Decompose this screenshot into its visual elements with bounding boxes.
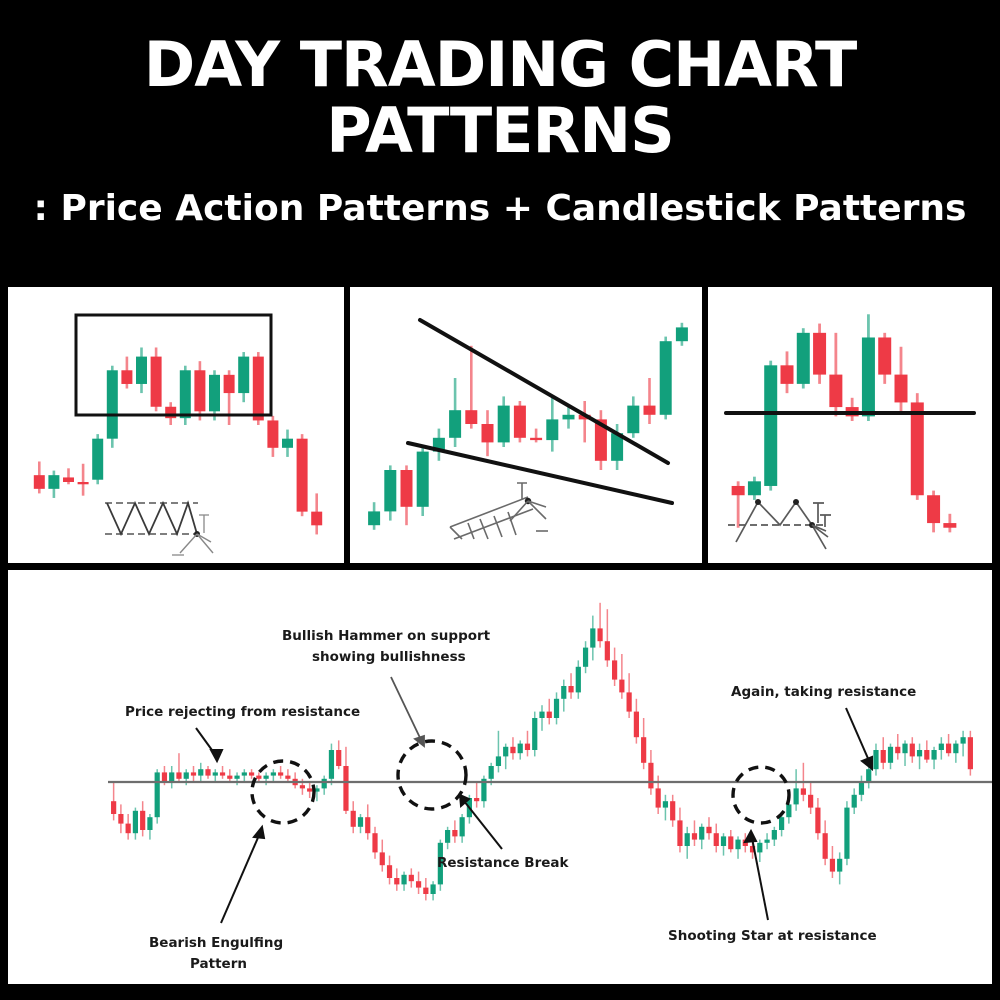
candle: [514, 401, 526, 442]
candle: [474, 782, 479, 808]
candle: [910, 737, 915, 763]
page-subtitle: : Price Action Patterns + Candlestick Pa…: [34, 188, 967, 230]
candle: [943, 514, 956, 533]
candle: [151, 347, 162, 411]
candle: [107, 366, 118, 448]
candle: [663, 795, 668, 821]
candle: [322, 776, 327, 795]
anno-bullish-hammer-line1: Bullish Hammer on support: [282, 628, 491, 644]
candle: [748, 477, 761, 500]
candle: [496, 731, 501, 773]
candle: [336, 740, 341, 769]
arrow-shooting-star: [745, 831, 768, 920]
candle: [433, 429, 445, 461]
candle: [605, 609, 610, 667]
candle: [895, 347, 908, 412]
anno-bearish-engulfing-line2: Pattern: [190, 956, 247, 972]
candle: [271, 769, 276, 782]
candle: [329, 744, 334, 786]
range-sketch: [105, 503, 213, 555]
candle: [209, 370, 220, 420]
candle: [568, 673, 573, 699]
candle: [597, 603, 602, 648]
candle: [430, 881, 435, 900]
candle: [924, 740, 929, 762]
candle: [121, 357, 132, 389]
poster-root: DAY TRADING CHART PATTERNS : Price Actio…: [0, 0, 1000, 1000]
anno-bullish-hammer-line2: showing bullishness: [312, 649, 466, 665]
candle: [685, 827, 690, 859]
lower-trendline: [408, 443, 672, 503]
candle: [627, 673, 632, 718]
candle: [852, 788, 857, 814]
candle: [147, 814, 152, 840]
candle: [873, 744, 878, 776]
candle: [808, 782, 813, 814]
anno-resistance-break: Resistance Break: [437, 855, 569, 871]
candle: [939, 737, 944, 759]
candle: [409, 868, 414, 887]
candle: [343, 747, 348, 814]
candle: [532, 712, 537, 757]
candle: [794, 769, 799, 811]
candle: [140, 801, 145, 836]
candle: [583, 641, 588, 673]
candle: [862, 314, 875, 421]
candle: [311, 493, 322, 534]
candle: [561, 680, 566, 712]
candle: [830, 846, 835, 878]
candle: [714, 824, 719, 853]
candle: [735, 836, 740, 858]
candle: [634, 699, 639, 744]
double-top-sketch: [728, 499, 831, 549]
candle: [285, 769, 290, 782]
poster-header: DAY TRADING CHART PATTERNS : Price Actio…: [0, 0, 1000, 285]
candle: [813, 324, 826, 384]
candle: [953, 740, 958, 762]
candle: [224, 370, 235, 425]
candle: [380, 840, 385, 872]
candle: [63, 468, 74, 484]
candle: [670, 795, 675, 827]
candle: [946, 734, 951, 756]
candle: [911, 393, 924, 500]
candle: [176, 753, 181, 782]
candle: [677, 808, 682, 853]
candle: [902, 740, 907, 766]
candle: [278, 766, 283, 779]
candle: [238, 352, 249, 402]
candle: [546, 396, 558, 451]
page-title-line2: PATTERNS: [326, 96, 674, 166]
candle: [365, 804, 370, 839]
candle: [249, 769, 254, 779]
anno-bearish-engulfing-line1: Bearish Engulfing: [149, 935, 283, 951]
candle: [372, 827, 377, 859]
candle: [728, 830, 733, 852]
panel3-candles: [732, 314, 957, 532]
candle: [757, 840, 762, 862]
candle: [194, 361, 205, 420]
circle-bullish-hammer: [398, 741, 466, 809]
candle: [878, 333, 891, 384]
candle: [220, 766, 225, 779]
candle: [823, 820, 828, 865]
wedge-sketch: [450, 483, 548, 539]
arrow-bearish-engulfing: [221, 827, 264, 923]
candle: [644, 378, 656, 424]
candle: [881, 737, 886, 769]
candle: [264, 772, 269, 785]
candle: [595, 410, 607, 470]
candle: [706, 817, 711, 839]
candle: [267, 416, 278, 457]
candle: [676, 323, 688, 346]
candle: [498, 396, 510, 447]
candle: [764, 833, 769, 849]
panel-double-top[interactable]: [708, 287, 992, 563]
candle: [198, 763, 203, 782]
candle: [797, 328, 810, 388]
candle: [136, 347, 147, 393]
candle: [297, 434, 308, 516]
candle: [358, 814, 363, 833]
candle: [242, 769, 247, 782]
candle: [401, 465, 413, 525]
candle: [772, 827, 777, 846]
candle: [234, 772, 239, 785]
pattern-panels-row: [8, 287, 992, 563]
candle: [844, 801, 849, 865]
panel-falling-wedge[interactable]: [350, 287, 702, 563]
candle: [721, 833, 726, 855]
candle: [660, 337, 672, 420]
candle: [205, 766, 210, 779]
candle: [293, 772, 298, 788]
candle: [126, 814, 131, 840]
candle: [503, 744, 508, 770]
arrow-bullish-hammer: [391, 677, 424, 746]
candle: [510, 737, 515, 759]
candle: [815, 798, 820, 840]
candle: [518, 740, 523, 759]
candle: [692, 820, 697, 846]
candle: [401, 872, 406, 891]
arrow-again-taking-resistance: [846, 708, 872, 769]
candle: [764, 361, 777, 491]
panel-range-rectangle[interactable]: [8, 287, 344, 563]
circle-bearish-engulfing: [252, 761, 314, 823]
candle: [888, 744, 893, 770]
anno-price-rejecting: Price rejecting from resistance: [125, 704, 360, 720]
candle: [961, 731, 966, 757]
candle: [351, 801, 356, 833]
candle: [307, 782, 312, 798]
candle: [460, 814, 465, 843]
anno-shooting-star: Shooting Star at resistance: [668, 928, 877, 944]
candle: [481, 776, 486, 808]
arrow-price-rejecting: [196, 728, 222, 761]
candle: [482, 410, 494, 456]
candle: [859, 776, 864, 802]
candle: [576, 660, 581, 698]
anno-again-taking-resistance: Again, taking resistance: [731, 684, 916, 700]
candle: [927, 491, 940, 533]
candle: [133, 808, 138, 840]
candle: [612, 648, 617, 686]
candle: [256, 772, 261, 782]
candle: [282, 430, 293, 457]
candle: [78, 464, 89, 496]
candle: [449, 378, 461, 447]
candle: [191, 766, 196, 782]
candle: [423, 878, 428, 900]
candle: [931, 747, 936, 769]
candle: [648, 750, 653, 795]
upper-trendline: [420, 320, 668, 463]
candle: [169, 766, 174, 788]
candle: [781, 351, 794, 393]
candle: [92, 434, 103, 484]
candle: [452, 820, 457, 842]
candle: [394, 868, 399, 890]
candle: [619, 654, 624, 699]
candle: [530, 429, 542, 443]
candle: [579, 401, 591, 442]
circle-shooting-star: [733, 767, 789, 823]
candle: [846, 398, 859, 421]
candle: [416, 872, 421, 894]
candle: [699, 824, 704, 850]
page-title-line1: DAY TRADING CHART: [144, 30, 857, 100]
candle: [895, 734, 900, 760]
candle: [368, 502, 380, 530]
candle: [829, 333, 842, 417]
candle: [837, 852, 842, 884]
candle: [539, 705, 544, 731]
candle: [968, 731, 973, 776]
candle: [627, 396, 639, 437]
candle: [111, 782, 116, 820]
candle: [547, 699, 552, 725]
candle: [465, 346, 477, 429]
candle: [554, 692, 559, 724]
candle: [417, 447, 429, 516]
candle: [917, 744, 922, 770]
candle: [227, 769, 232, 782]
candle: [641, 718, 646, 769]
candle: [590, 616, 595, 661]
candle: [384, 465, 396, 520]
candle: [213, 769, 218, 782]
candle: [118, 804, 123, 833]
arrow-resistance-break: [460, 795, 502, 849]
candle: [34, 461, 45, 493]
candle: [155, 769, 160, 823]
candle: [732, 481, 745, 527]
candle: [387, 856, 392, 885]
main-candlestick-chart[interactable]: Price rejecting from resistance Bullish …: [8, 570, 992, 984]
candle: [525, 731, 530, 757]
candle: [48, 471, 59, 498]
candle: [445, 827, 450, 849]
